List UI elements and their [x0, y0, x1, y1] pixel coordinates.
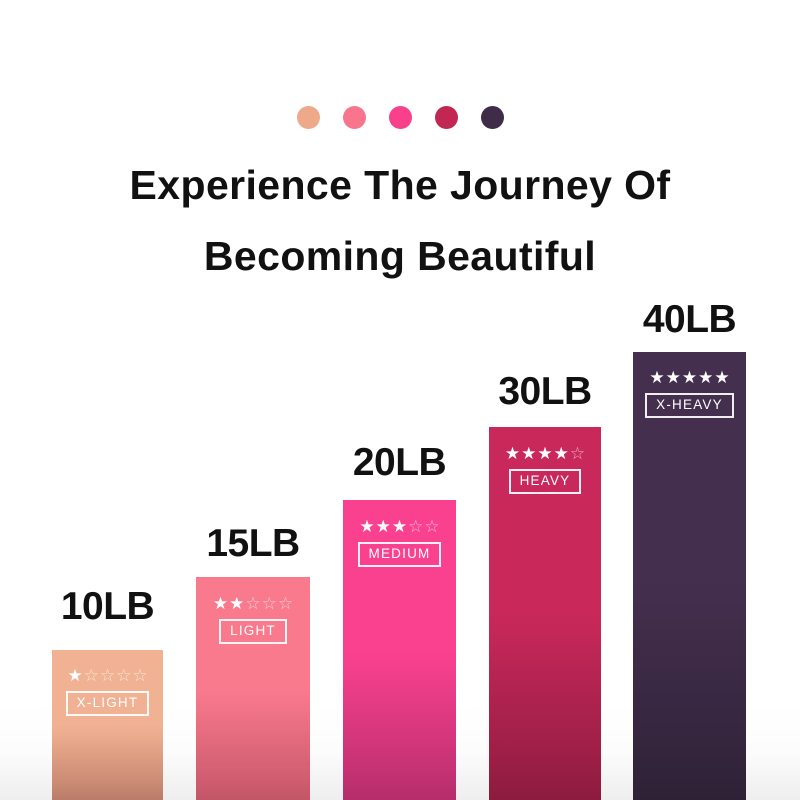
- star-filled-icon: ★: [67, 667, 82, 684]
- star-rating: ★☆☆☆☆: [67, 667, 147, 684]
- bar-group-40lb[interactable]: 40LB★★★★★X-HEAVY: [633, 0, 746, 800]
- star-filled-icon: ★: [666, 369, 681, 386]
- tier-badge: MEDIUM: [358, 542, 442, 567]
- bar-shading-overlay: [633, 352, 746, 800]
- bar-column[interactable]: ★★☆☆☆LIGHT: [196, 577, 310, 800]
- bar-rating-block: ★★★☆☆MEDIUM: [343, 518, 456, 567]
- star-empty-icon: ☆: [132, 667, 147, 684]
- bar-rating-block: ★★★★☆HEAVY: [489, 445, 601, 494]
- tier-badge: X-HEAVY: [645, 393, 734, 418]
- infographic-canvas: Experience The Journey Of Becoming Beaut…: [0, 0, 800, 800]
- bar-group-15lb[interactable]: 15LB★★☆☆☆LIGHT: [196, 0, 310, 800]
- star-rating: ★★★★★: [649, 369, 729, 386]
- star-empty-icon: ☆: [278, 595, 293, 612]
- bar-column[interactable]: ★★★★★X-HEAVY: [633, 352, 746, 800]
- bar-rating-block: ★★☆☆☆LIGHT: [196, 595, 310, 644]
- star-filled-icon: ★: [392, 518, 407, 535]
- star-filled-icon: ★: [505, 445, 520, 462]
- star-empty-icon: ☆: [84, 667, 99, 684]
- star-filled-icon: ★: [554, 445, 569, 462]
- star-filled-icon: ★: [229, 595, 244, 612]
- bar-weight-label: 10LB: [38, 585, 177, 629]
- bar-column[interactable]: ★★★☆☆MEDIUM: [343, 500, 456, 800]
- star-filled-icon: ★: [359, 518, 374, 535]
- star-empty-icon: ☆: [570, 445, 585, 462]
- star-rating: ★★★☆☆: [359, 518, 439, 535]
- bar-weight-label: 20LB: [329, 441, 470, 485]
- bar-column[interactable]: ★★★★☆HEAVY: [489, 427, 601, 800]
- star-filled-icon: ★: [213, 595, 228, 612]
- bar-weight-label: 40LB: [619, 298, 760, 342]
- bar-rating-block: ★☆☆☆☆X-LIGHT: [52, 667, 163, 716]
- star-rating: ★★★★☆: [505, 445, 585, 462]
- star-empty-icon: ☆: [262, 595, 277, 612]
- star-empty-icon: ☆: [100, 667, 115, 684]
- bar-rating-block: ★★★★★X-HEAVY: [633, 369, 746, 418]
- star-empty-icon: ☆: [245, 595, 260, 612]
- star-empty-icon: ☆: [408, 518, 423, 535]
- resistance-band-bar-chart: 10LB★☆☆☆☆X-LIGHT15LB★★☆☆☆LIGHT20LB★★★☆☆M…: [0, 0, 800, 800]
- bar-column[interactable]: ★☆☆☆☆X-LIGHT: [52, 650, 163, 800]
- star-filled-icon: ★: [714, 369, 729, 386]
- star-filled-icon: ★: [376, 518, 391, 535]
- bar-weight-label: 30LB: [475, 370, 615, 414]
- bar-group-30lb[interactable]: 30LB★★★★☆HEAVY: [489, 0, 601, 800]
- star-filled-icon: ★: [698, 369, 713, 386]
- star-empty-icon: ☆: [116, 667, 131, 684]
- bar-group-10lb[interactable]: 10LB★☆☆☆☆X-LIGHT: [52, 0, 163, 800]
- tier-badge: LIGHT: [219, 619, 287, 644]
- star-filled-icon: ★: [682, 369, 697, 386]
- star-filled-icon: ★: [521, 445, 536, 462]
- star-filled-icon: ★: [649, 369, 664, 386]
- star-filled-icon: ★: [537, 445, 552, 462]
- bar-weight-label: 15LB: [182, 522, 324, 566]
- tier-badge: HEAVY: [509, 469, 582, 494]
- bar-group-20lb[interactable]: 20LB★★★☆☆MEDIUM: [343, 0, 456, 800]
- tier-badge: X-LIGHT: [66, 691, 150, 716]
- star-empty-icon: ☆: [424, 518, 439, 535]
- star-rating: ★★☆☆☆: [213, 595, 293, 612]
